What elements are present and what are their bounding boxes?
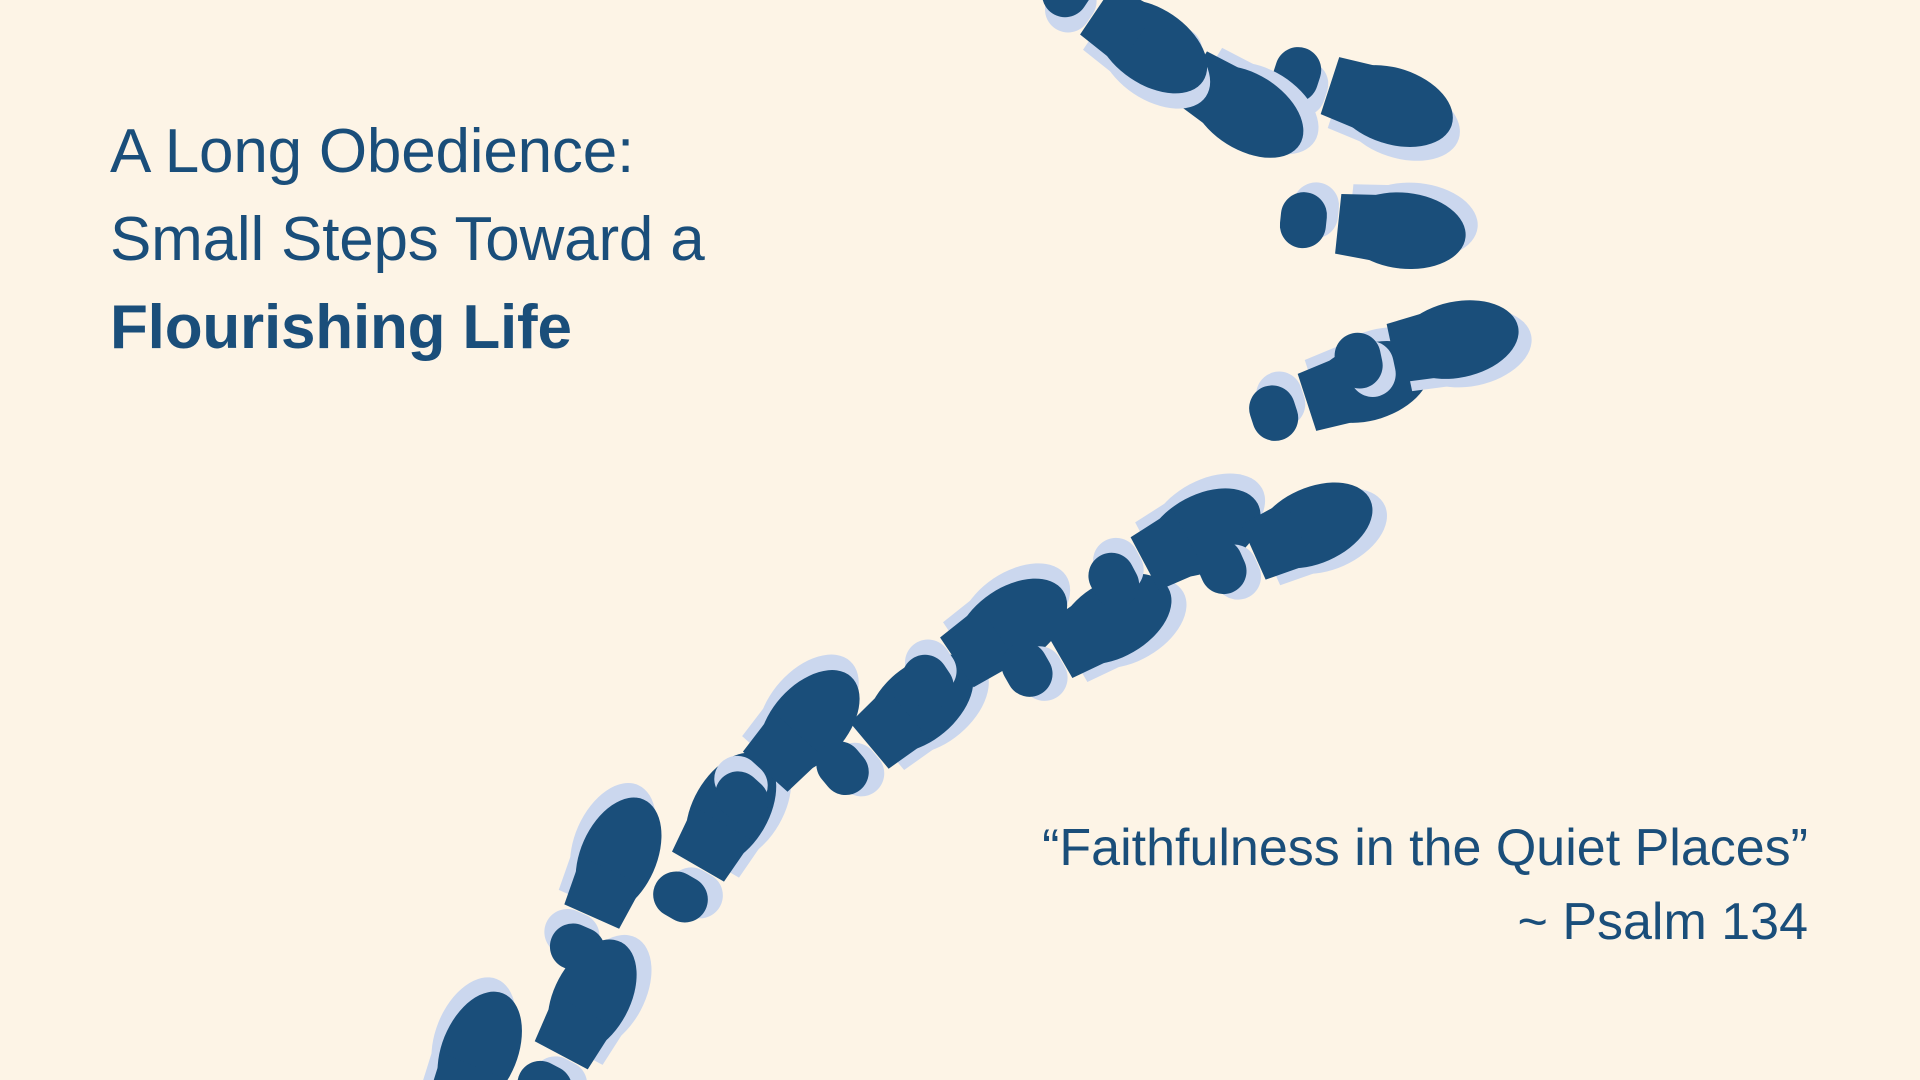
- footprint-right: [988, 550, 1202, 724]
- title-line-3-emphasis: Flourishing Life: [110, 284, 1010, 372]
- title-line-2: Small Steps Toward a: [110, 196, 1010, 284]
- footprint-right: [1328, 287, 1539, 413]
- footprint-right: [1021, 0, 1233, 128]
- quote-block: “Faithfulness in the Quiet Places” ~ Psa…: [608, 812, 1808, 960]
- footprint-right: [801, 627, 1008, 820]
- footprint-left: [1070, 455, 1285, 624]
- footprint-left: [1277, 169, 1482, 276]
- title-line-1: A Long Obedience:: [110, 108, 1010, 196]
- footprint-left: [1237, 313, 1451, 457]
- footprint-left: [388, 965, 542, 1080]
- quote-attribution: ~ Psalm 134: [608, 886, 1808, 960]
- footprint-right: [1185, 461, 1400, 621]
- footprint-left: [1122, 5, 1335, 183]
- footprint-right: [1260, 32, 1474, 176]
- slide-canvas: A Long Obedience: Small Steps Toward a F…: [0, 0, 1920, 1080]
- footprint-left: [690, 636, 886, 841]
- page-title: A Long Obedience: Small Steps Toward a F…: [110, 108, 1010, 372]
- footprint-left: [881, 544, 1093, 726]
- quote-text: “Faithfulness in the Quiet Places”: [608, 812, 1808, 886]
